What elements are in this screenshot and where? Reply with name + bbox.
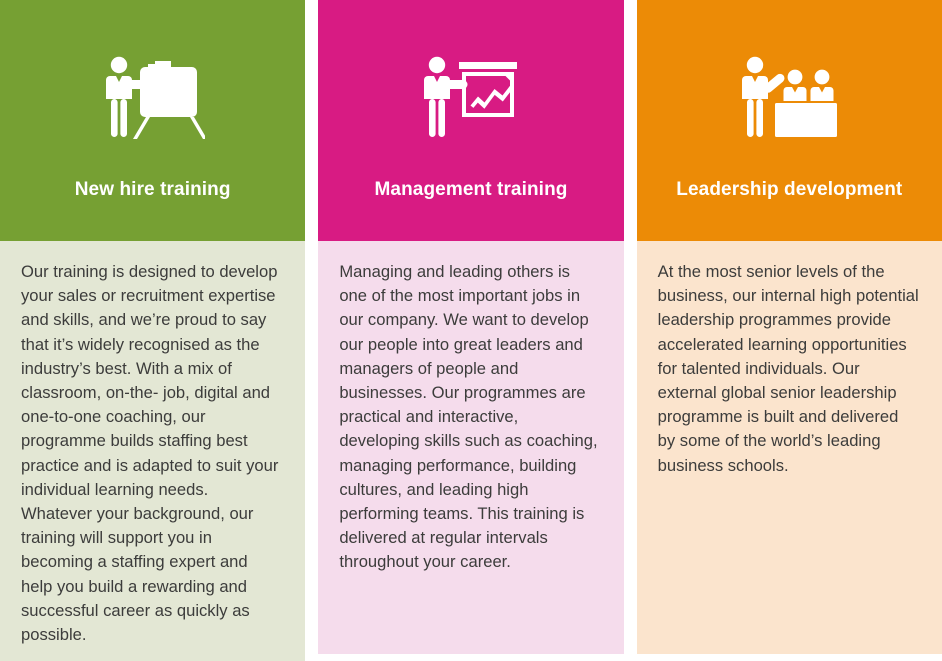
presenter-bar-chart-icon — [101, 52, 205, 144]
card-title-management-training: Management training — [318, 178, 623, 202]
card-leadership-development: Leadership development At the most senio… — [637, 0, 942, 654]
card-title-leadership-development: Leadership development — [637, 178, 942, 202]
card-body-leadership-development: At the most senior levels of the busines… — [637, 241, 942, 654]
card-body-management-training: Managing and leading others is one of th… — [318, 241, 623, 654]
card-title-new-hire-training: New hire training — [0, 178, 305, 202]
training-cards-board: New hire training Our training is design… — [0, 0, 942, 654]
card-new-hire-training: New hire training Our training is design… — [0, 0, 305, 654]
presenter-audience-desk-icon — [737, 52, 841, 144]
card-management-training: Management training Managing and leading… — [318, 0, 623, 654]
card-body-text: At the most senior levels of the busines… — [658, 260, 920, 478]
card-header-leadership-development: Leadership development — [637, 0, 942, 241]
card-body-text: Our training is designed to develop your… — [21, 260, 283, 647]
card-header-management-training: Management training — [318, 0, 623, 241]
card-body-text: Managing and leading others is one of th… — [339, 260, 601, 575]
card-header-new-hire-training: New hire training — [0, 0, 305, 241]
presenter-line-chart-icon — [419, 52, 523, 144]
card-body-new-hire-training: Our training is designed to develop your… — [0, 241, 305, 661]
